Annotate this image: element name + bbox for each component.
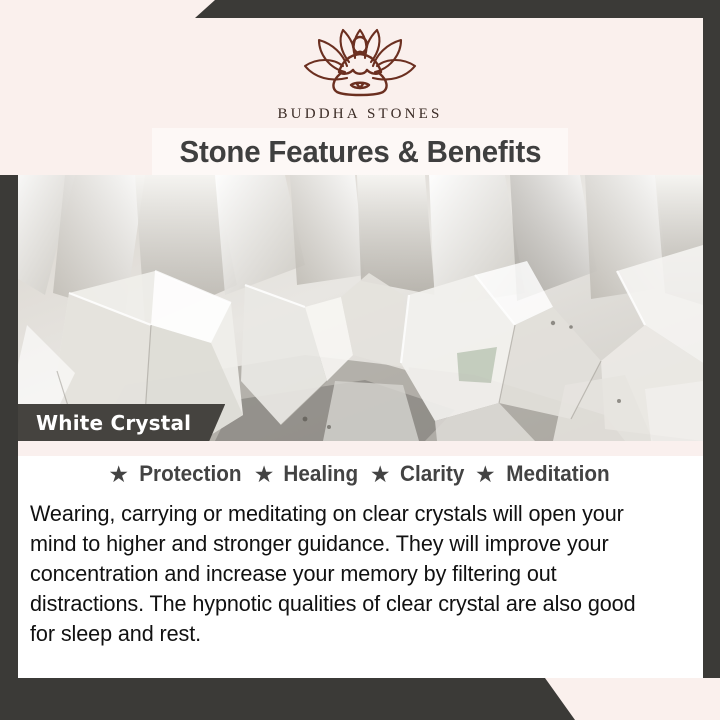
left-frame-rail [0, 175, 18, 675]
star-icon: ★ [370, 463, 391, 486]
benefit-item-meditation: ★ Meditation [475, 461, 613, 487]
title-plate: Stone Features & Benefits [152, 128, 568, 175]
benefit-label: Meditation [506, 461, 609, 487]
panel-accent-strip [18, 441, 703, 456]
details-panel: ★ Protection ★ Healing ★ Clarity ★ Medit… [18, 441, 703, 680]
page-title: Stone Features & Benefits [179, 134, 541, 170]
brand-logo: BUDDHA STONES [0, 22, 720, 123]
bottom-frame-dark-wedge [0, 678, 575, 720]
description-text: Wearing, carrying or meditating on clear… [30, 499, 666, 649]
product-info-card: BUDDHA STONES Stone Features & Benefits [0, 0, 720, 720]
star-icon: ★ [475, 463, 496, 486]
benefit-label: Healing [284, 461, 359, 487]
crystal-cluster-image [5, 175, 703, 441]
benefit-label: Clarity [400, 461, 464, 487]
stone-photo [5, 175, 703, 441]
star-icon: ★ [108, 463, 129, 486]
benefits-row: ★ Protection ★ Healing ★ Clarity ★ Medit… [18, 461, 703, 487]
lotus-meditation-icon [285, 22, 435, 102]
benefit-item-clarity: ★ Clarity [370, 461, 466, 487]
benefit-label: Protection [139, 461, 241, 487]
star-icon: ★ [254, 463, 275, 486]
header-corner-wedge [195, 0, 720, 18]
right-frame-rail [703, 175, 720, 675]
stone-name-label: White Crystal [36, 411, 191, 435]
benefit-item-protection: ★ Protection [108, 461, 244, 487]
benefit-item-healing: ★ Healing [254, 461, 361, 487]
card-header: BUDDHA STONES Stone Features & Benefits [0, 0, 720, 175]
brand-name: BUDDHA STONES [277, 106, 442, 123]
stone-name-tag: White Crystal [18, 404, 225, 441]
